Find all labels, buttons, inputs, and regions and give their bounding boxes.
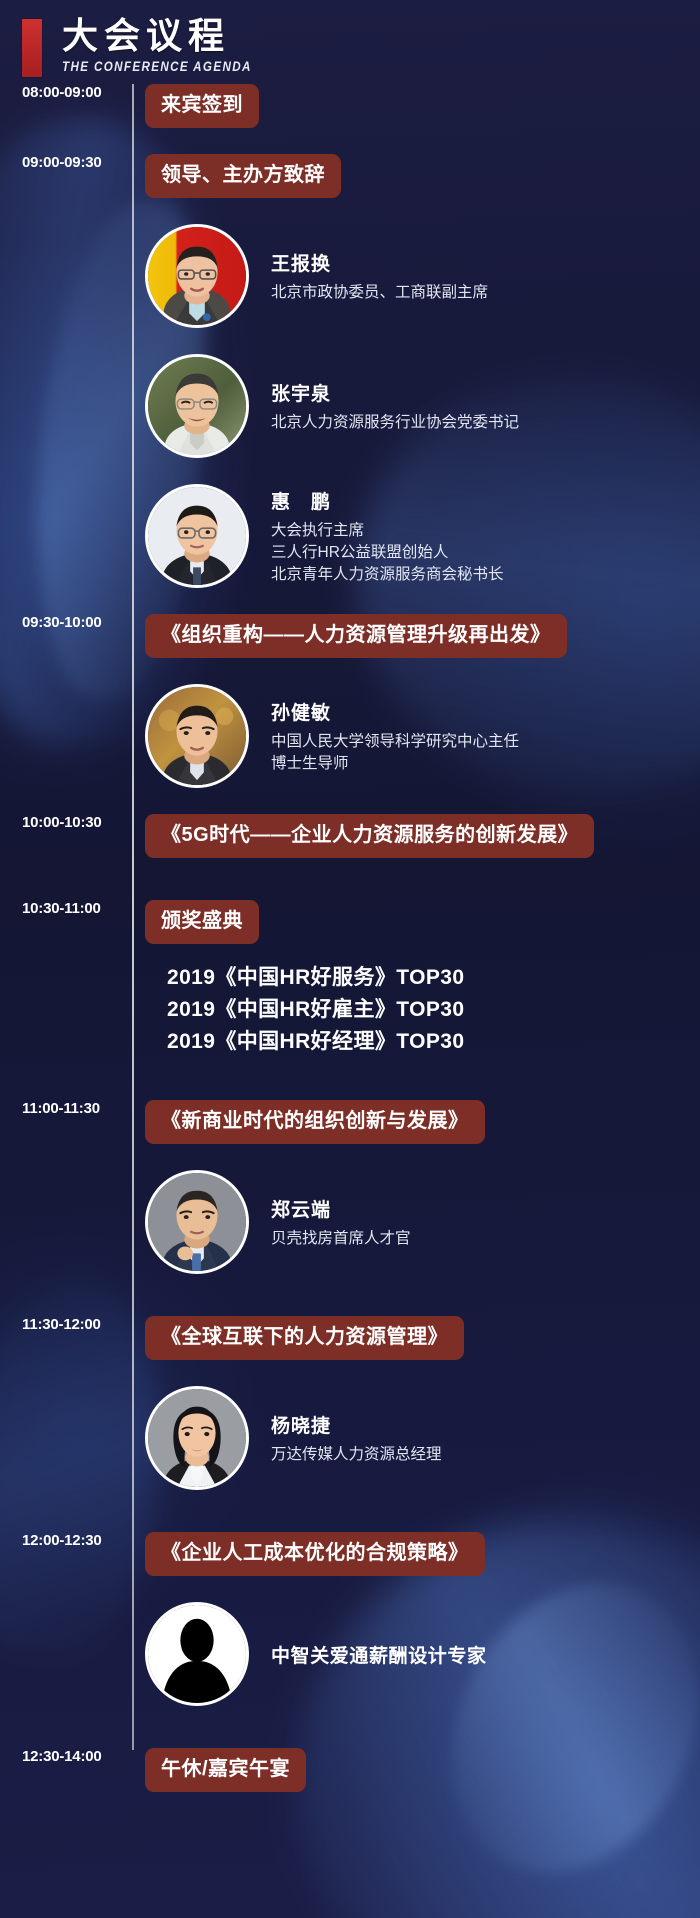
speaker-title: 中智关爱通薪酬设计专家: [271, 1641, 487, 1668]
agenda-time: 10:00-10:30: [0, 814, 132, 831]
speaker-card: 中智关爱通薪酬设计专家: [145, 1602, 700, 1706]
speaker-card: 孙健敏 中国人民大学领导科学研究中心主任 博士生导师: [145, 684, 700, 788]
accent-bar-icon: [22, 19, 42, 77]
poster-header: 大会议程 THE CONFERENCE AGENDA: [0, 0, 700, 84]
agenda-row: 09:30-10:00 《组织重构——人力资源管理升级再出发》: [0, 614, 700, 788]
agenda-session-pill[interactable]: 领导、主办方致辞: [145, 154, 341, 198]
spacer: [0, 1490, 700, 1516]
speaker-card: 郑云端 贝壳找房首席人才官: [145, 1170, 700, 1274]
agenda-list: 08:00-09:00 来宾签到 09:00-09:30 领导、主办方致辞: [0, 84, 700, 1816]
speaker-title: 北京市政协委员、工商联副主席: [271, 282, 488, 304]
avatar: [145, 1170, 249, 1274]
speaker-title: 中国人民大学领导科学研究中心主任: [271, 731, 519, 753]
portrait-placeholder-silhouette-icon: [148, 1605, 246, 1703]
spacer: [0, 1706, 700, 1732]
page-subtitle: THE CONFERENCE AGENDA: [62, 59, 252, 74]
agenda-row: 10:30-11:00 颁奖盛典 2019《中国HR好服务》TOP30 2019…: [0, 900, 700, 1058]
award-list: 2019《中国HR好服务》TOP30 2019《中国HR好雇主》TOP30 20…: [145, 962, 700, 1058]
speaker-name: 王报换: [271, 249, 488, 276]
spacer: [0, 788, 700, 814]
avatar: [145, 354, 249, 458]
portrait-zheng-yunduan-icon: [148, 1173, 246, 1271]
spacer: [145, 1360, 700, 1386]
agenda-session-pill[interactable]: 《企业人工成本优化的合规策略》: [145, 1532, 485, 1576]
agenda-session-pill[interactable]: 午休/嘉宾午宴: [145, 1748, 306, 1792]
spacer: [0, 1300, 700, 1316]
agenda-row: 12:00-12:30 《企业人工成本优化的合规策略》 中智关爱通薪酬设计专家: [0, 1532, 700, 1706]
portrait-hui-peng-icon: [148, 487, 246, 585]
speaker-title: 三人行HR公益联盟创始人: [271, 542, 504, 564]
agenda-time: 11:00-11:30: [0, 1100, 132, 1117]
award-item: 2019《中国HR好服务》TOP30: [167, 962, 700, 994]
page-title: 大会议程: [62, 16, 283, 56]
speaker-name: 杨晓捷: [271, 1411, 442, 1438]
speaker-name: 惠 鹏: [271, 487, 504, 514]
agenda-row: 09:00-09:30 领导、主办方致辞: [0, 154, 700, 588]
avatar: [145, 224, 249, 328]
speaker-title: 博士生导师: [271, 753, 519, 775]
agenda-time: 12:30-14:00: [0, 1748, 132, 1765]
speaker-card: 杨晓捷 万达传媒人力资源总经理: [145, 1386, 700, 1490]
spacer: [0, 1732, 700, 1748]
speaker-name: 郑云端: [271, 1195, 411, 1222]
speaker-title: 万达传媒人力资源总经理: [271, 1444, 442, 1466]
agenda-row: 11:30-12:00 《全球互联下的人力资源管理》: [0, 1316, 700, 1490]
spacer: [0, 128, 700, 154]
spacer: [0, 858, 700, 884]
spacer: [145, 1144, 700, 1170]
avatar: [145, 1386, 249, 1490]
avatar: [145, 684, 249, 788]
portrait-zhang-yuquan-icon: [148, 357, 246, 455]
spacer: [145, 458, 700, 484]
avatar: [145, 484, 249, 588]
speaker-card: 王报换 北京市政协委员、工商联副主席: [145, 224, 700, 328]
spacer: [0, 1058, 700, 1084]
conference-agenda-poster: 大会议程 THE CONFERENCE AGENDA 08:00-09:00 来…: [0, 0, 700, 1918]
spacer: [145, 1576, 700, 1602]
speaker-name: 孙健敏: [271, 698, 519, 725]
speaker-title: 北京人力资源服务行业协会党委书记: [271, 412, 519, 434]
agenda-session-pill[interactable]: 《新商业时代的组织创新与发展》: [145, 1100, 485, 1144]
agenda-session-pill[interactable]: 《组织重构——人力资源管理升级再出发》: [145, 614, 567, 658]
agenda-session-pill[interactable]: 《全球互联下的人力资源管理》: [145, 1316, 464, 1360]
agenda-row: 12:30-14:00 午休/嘉宾午宴: [0, 1748, 700, 1792]
agenda-time: 11:30-12:00: [0, 1316, 132, 1333]
speaker-title: 北京青年人力资源服务商会秘书长: [271, 564, 504, 586]
spacer: [145, 328, 700, 354]
agenda-session-pill[interactable]: 颁奖盛典: [145, 900, 259, 944]
agenda-row: 11:00-11:30 《新商业时代的组织创新与发展》: [0, 1100, 700, 1274]
agenda-time: 09:00-09:30: [0, 154, 132, 171]
agenda-session-pill[interactable]: 《5G时代——企业人力资源服务的创新发展》: [145, 814, 594, 858]
agenda-session-pill[interactable]: 来宾签到: [145, 84, 259, 128]
speaker-card: 惠 鹏 大会执行主席 三人行HR公益联盟创始人 北京青年人力资源服务商会秘书长: [145, 484, 700, 588]
speaker-name: 张宇泉: [271, 379, 519, 406]
award-item: 2019《中国HR好雇主》TOP30: [167, 994, 700, 1026]
portrait-yang-xiaojie-icon: [148, 1389, 246, 1487]
speaker-card: 张宇泉 北京人力资源服务行业协会党委书记: [145, 354, 700, 458]
award-item: 2019《中国HR好经理》TOP30: [167, 1026, 700, 1058]
portrait-wang-baohuan-icon: [148, 227, 246, 325]
spacer: [145, 198, 700, 224]
spacer: [145, 658, 700, 684]
agenda-row: 08:00-09:00 来宾签到: [0, 84, 700, 128]
agenda-time: 08:00-09:00: [0, 84, 132, 101]
agenda-time: 10:30-11:00: [0, 900, 132, 917]
speaker-title: 贝壳找房首席人才官: [271, 1228, 411, 1250]
agenda-time: 09:30-10:00: [0, 614, 132, 631]
spacer: [0, 1274, 700, 1300]
agenda-time: 12:00-12:30: [0, 1532, 132, 1549]
avatar: [145, 1602, 249, 1706]
spacer: [0, 884, 700, 900]
spacer: [0, 1516, 700, 1532]
spacer: [0, 1084, 700, 1100]
speaker-title: 大会执行主席: [271, 520, 504, 542]
portrait-sun-jianmin-icon: [148, 687, 246, 785]
agenda-row: 10:00-10:30 《5G时代——企业人力资源服务的创新发展》: [0, 814, 700, 858]
spacer: [0, 588, 700, 614]
